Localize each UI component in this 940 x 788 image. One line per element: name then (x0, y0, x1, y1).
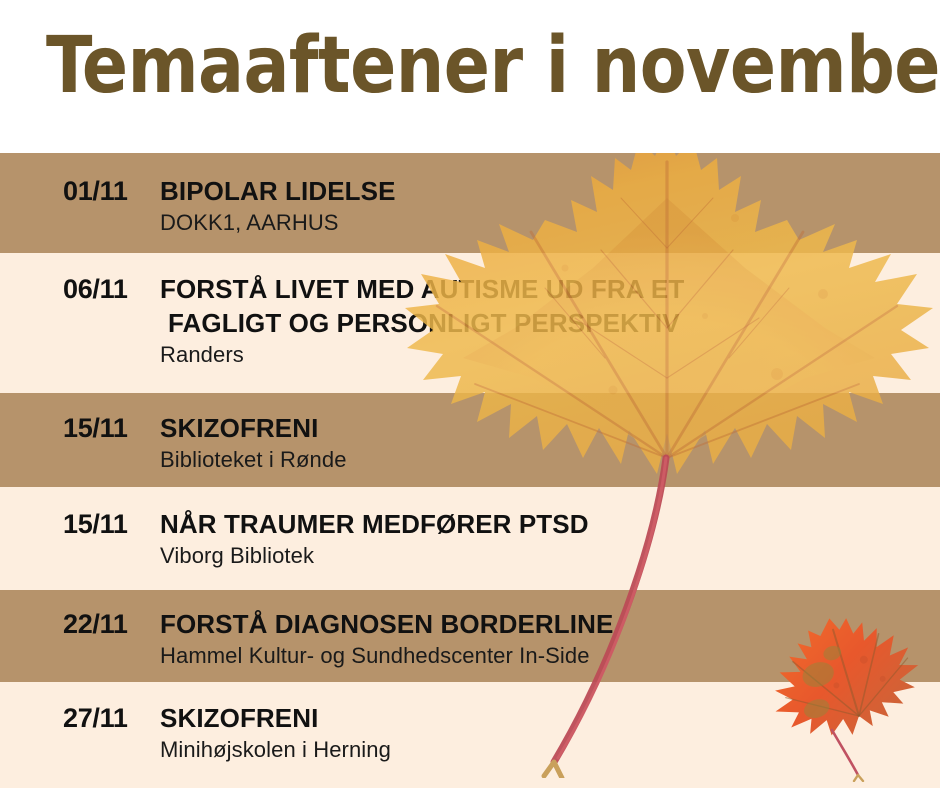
event-venue: Biblioteket i Rønde (160, 445, 930, 475)
event-list: 01/11 BIPOLAR LIDELSE DOKK1, AARHUS 06/1… (0, 153, 940, 788)
page-title: Temaaftener i november (46, 26, 880, 106)
event-date: 15/11 (0, 413, 160, 444)
event-title-line2: FAGLIGT OG PERSONLIGT PERSPEKTIV (160, 306, 930, 340)
event-row: 01/11 BIPOLAR LIDELSE DOKK1, AARHUS (0, 153, 940, 253)
event-venue: Randers (160, 340, 930, 370)
event-row: 06/11 FORSTÅ LIVET MED AUTISME UD FRA ET… (0, 253, 940, 393)
event-title-line1: FORSTÅ DIAGNOSEN BORDERLINE (160, 607, 930, 641)
poster-canvas: 01/11 BIPOLAR LIDELSE DOKK1, AARHUS 06/1… (0, 0, 940, 788)
event-row: 27/11 SKIZOFRENI Minihøjskolen i Herning (0, 682, 940, 788)
event-title-line1: BIPOLAR LIDELSE (160, 174, 930, 208)
event-body: NÅR TRAUMER MEDFØRER PTSD Viborg Bibliot… (160, 507, 940, 571)
event-venue: DOKK1, AARHUS (160, 208, 930, 238)
event-row: 22/11 FORSTÅ DIAGNOSEN BORDERLINE Hammel… (0, 590, 940, 682)
event-row: 15/11 NÅR TRAUMER MEDFØRER PTSD Viborg B… (0, 487, 940, 590)
event-body: FORSTÅ DIAGNOSEN BORDERLINE Hammel Kultu… (160, 607, 940, 671)
event-date: 06/11 (0, 274, 160, 305)
event-row: 15/11 SKIZOFRENI Biblioteket i Rønde (0, 393, 940, 487)
event-body: BIPOLAR LIDELSE DOKK1, AARHUS (160, 174, 940, 238)
event-venue: Viborg Bibliotek (160, 541, 930, 571)
event-title-line1: FORSTÅ LIVET MED AUTISME UD FRA ET (160, 272, 930, 306)
event-date: 01/11 (0, 176, 160, 207)
poster-header: Temaaftener i november (0, 0, 940, 153)
event-title-line1: SKIZOFRENI (160, 411, 930, 445)
event-date: 15/11 (0, 509, 160, 540)
event-body: FORSTÅ LIVET MED AUTISME UD FRA ET FAGLI… (160, 272, 940, 370)
event-venue: Hammel Kultur- og Sundhedscenter In-Side (160, 641, 930, 671)
event-date: 22/11 (0, 609, 160, 640)
event-venue: Minihøjskolen i Herning (160, 735, 930, 765)
event-title-line1: SKIZOFRENI (160, 701, 930, 735)
event-body: SKIZOFRENI Minihøjskolen i Herning (160, 701, 940, 765)
event-title-line1: NÅR TRAUMER MEDFØRER PTSD (160, 507, 930, 541)
event-body: SKIZOFRENI Biblioteket i Rønde (160, 411, 940, 475)
event-date: 27/11 (0, 703, 160, 734)
